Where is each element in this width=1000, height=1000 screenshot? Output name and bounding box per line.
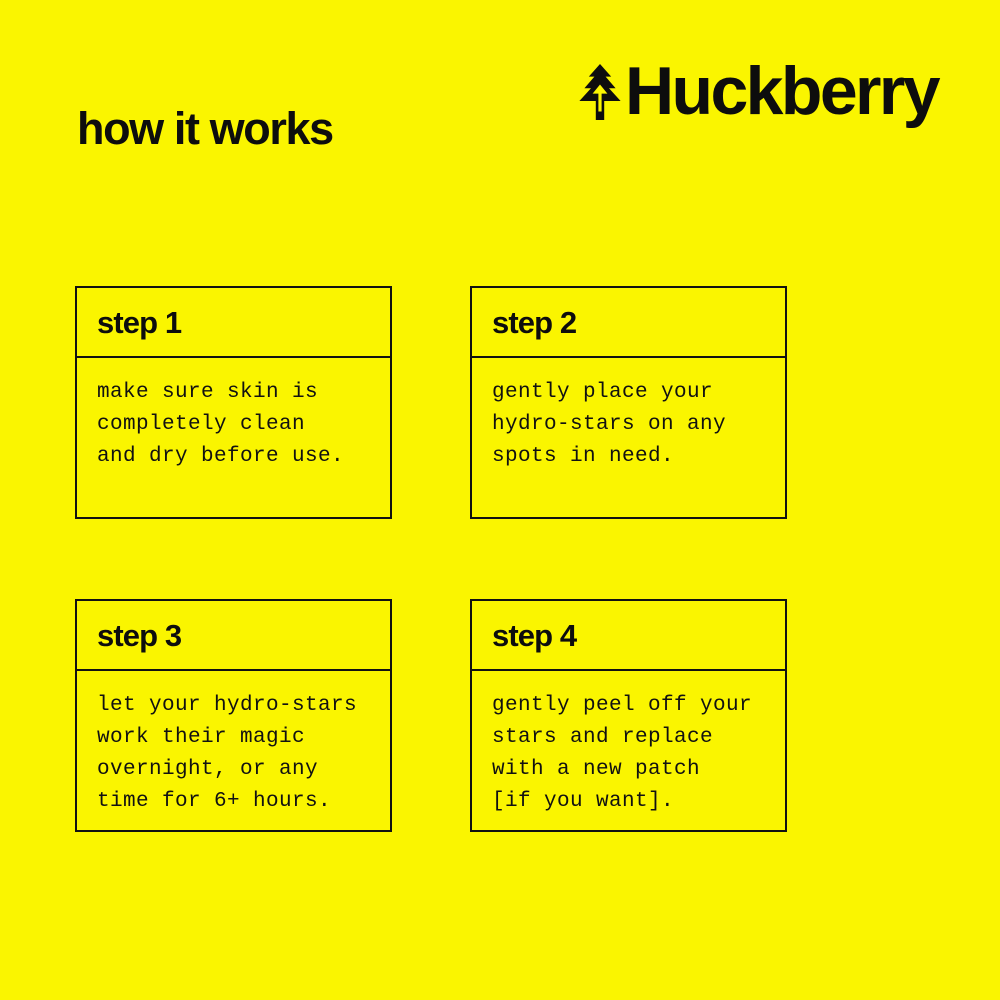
step-description: make sure skin is completely clean and d… <box>97 377 376 473</box>
step-card-body: make sure skin is completely clean and d… <box>77 358 390 517</box>
step-card-header: step 1 <box>77 288 390 358</box>
page-title: how it works <box>77 102 333 156</box>
steps-grid: step 1 make sure skin is completely clea… <box>75 286 787 832</box>
brand-lockup: Huckberry <box>577 56 938 126</box>
step-card-body: let your hydro-stars work their magic ov… <box>77 671 390 830</box>
step-title: step 3 <box>97 620 181 651</box>
step-card-3: step 3 let your hydro-stars work their m… <box>75 599 392 832</box>
step-card-header: step 3 <box>77 601 390 671</box>
step-card-4: step 4 gently peel off your stars and re… <box>470 599 787 832</box>
step-card-header: step 2 <box>472 288 785 358</box>
step-title: step 2 <box>492 307 576 338</box>
step-card-1: step 1 make sure skin is completely clea… <box>75 286 392 519</box>
step-card-header: step 4 <box>472 601 785 671</box>
brand-name: Huckberry <box>625 57 938 125</box>
step-description: gently peel off your stars and replace w… <box>492 690 771 818</box>
step-description: gently place your hydro-stars on any spo… <box>492 377 771 473</box>
how-it-works-graphic: Huckberry how it works step 1 make sure … <box>0 0 1000 1000</box>
step-title: step 4 <box>492 620 576 651</box>
step-card-body: gently place your hydro-stars on any spo… <box>472 358 785 517</box>
pine-tree-icon <box>577 64 623 120</box>
step-card-2: step 2 gently place your hydro-stars on … <box>470 286 787 519</box>
step-description: let your hydro-stars work their magic ov… <box>97 690 376 818</box>
step-title: step 1 <box>97 307 181 338</box>
step-card-body: gently peel off your stars and replace w… <box>472 671 785 830</box>
